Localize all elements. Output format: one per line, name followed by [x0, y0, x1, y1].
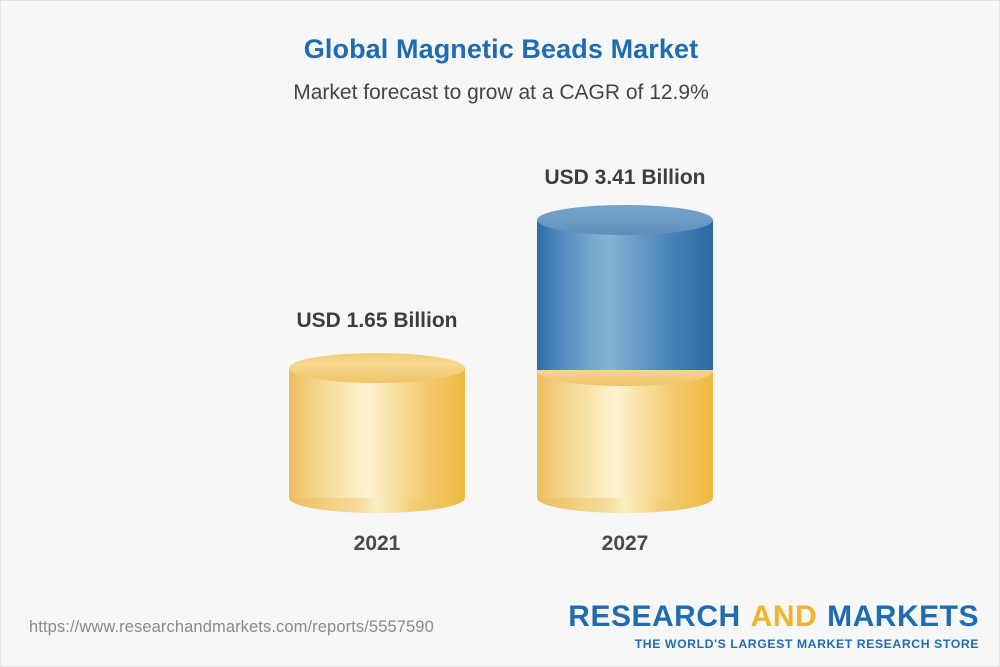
value-label-2027: USD 3.41 Billion: [537, 166, 713, 190]
cylinder-body-lower-2027: [537, 370, 713, 498]
infographic-card: Global Magnetic Beads Market Market fore…: [0, 0, 1000, 667]
brand-word-research: RESEARCH: [568, 600, 740, 633]
value-label-2021: USD 1.65 Billion: [289, 309, 465, 333]
cylinder-top-cap-2021: [289, 353, 465, 383]
chart-plot-area: USD 1.65 Billion 2021 USD 3.41 Billion 2…: [1, 1, 1000, 667]
brand-logo-wordmark: RESEARCHANDMARKETS: [568, 602, 979, 632]
brand-word-and: AND: [751, 600, 818, 633]
cylinder-body-2021: [289, 368, 465, 498]
brand-word-markets: MARKETS: [827, 600, 979, 633]
cylinder-body-upper-2027: [537, 220, 713, 370]
axis-label-2027: 2027: [537, 532, 713, 556]
brand-tagline: THE WORLD'S LARGEST MARKET RESEARCH STOR…: [568, 638, 979, 650]
footer: https://www.researchandmarkets.com/repor…: [1, 596, 1000, 666]
axis-label-2021: 2021: [289, 532, 465, 556]
brand-logo[interactable]: RESEARCHANDMARKETS THE WORLD'S LARGEST M…: [568, 602, 979, 650]
source-url-link[interactable]: https://www.researchandmarkets.com/repor…: [29, 618, 434, 637]
cylinder-top-cap-2027: [537, 205, 713, 235]
